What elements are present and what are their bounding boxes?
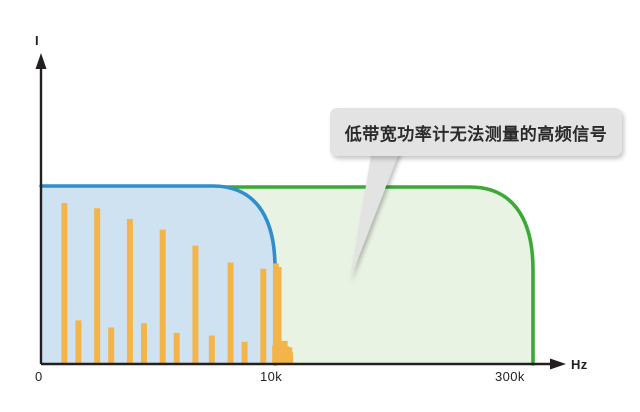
signal-bar	[228, 263, 234, 364]
signal-bar	[287, 352, 293, 364]
signal-bar	[192, 246, 198, 364]
signal-bar	[209, 336, 215, 364]
signal-bar	[127, 219, 133, 364]
x-tick-label-10k: 10k	[260, 369, 282, 384]
signal-bar	[174, 333, 180, 364]
figure-canvas: 低带宽功率计无法测量的高频信号 I Hz 0 10k 300k	[0, 0, 640, 412]
signal-bar	[242, 342, 248, 364]
signal-bar	[75, 320, 81, 364]
y-axis-label: I	[35, 33, 39, 48]
signal-bar	[260, 269, 266, 364]
x-axis-label: Hz	[571, 357, 588, 372]
annotation-callout: 低带宽功率计无法测量的高频信号	[330, 108, 622, 156]
y-axis-arrow	[36, 53, 47, 69]
annotation-callout-text: 低带宽功率计无法测量的高频信号	[345, 120, 608, 145]
x-tick-label-300k: 300k	[495, 369, 525, 384]
signal-bar	[160, 230, 166, 364]
signal-bar	[94, 208, 100, 364]
spectrum-plot	[0, 0, 640, 412]
x-tick-label-0: 0	[35, 369, 43, 384]
signal-bar	[61, 203, 67, 364]
x-axis-arrow	[550, 359, 566, 370]
signal-bar	[141, 323, 147, 364]
signal-bar	[108, 328, 114, 364]
